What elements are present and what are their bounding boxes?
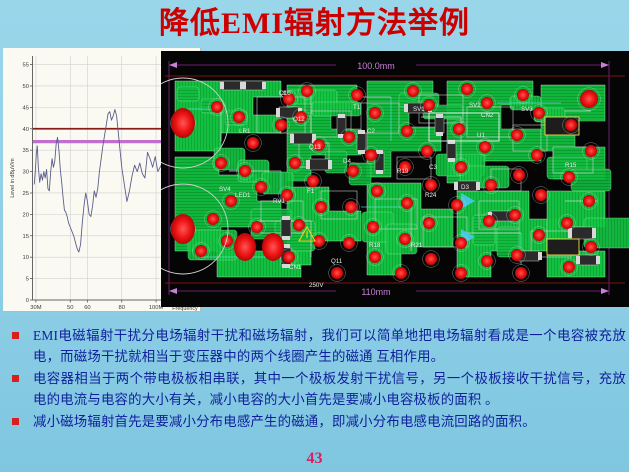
page-number: 43 xyxy=(0,450,629,468)
svg-text:CN1: CN1 xyxy=(289,264,302,271)
svg-text:F1: F1 xyxy=(307,188,315,195)
svg-text:R24: R24 xyxy=(425,192,437,199)
svg-text:RV1: RV1 xyxy=(273,198,285,205)
square-bullet-icon xyxy=(12,375,19,382)
svg-text:80: 80 xyxy=(119,305,125,311)
square-bullet-icon xyxy=(12,418,19,425)
svg-text:250V: 250V xyxy=(309,282,324,289)
svg-text:Q12: Q12 xyxy=(293,116,305,123)
bullet-text: 减小磁场辐射首先是要减小分布电感产生的磁通，即减小分布电感电流回路的面积。 xyxy=(33,411,626,432)
svg-text:CN2: CN2 xyxy=(481,112,494,119)
svg-text:R21: R21 xyxy=(411,242,423,249)
svg-text:60: 60 xyxy=(84,305,90,311)
svg-text:0: 0 xyxy=(26,298,29,304)
svg-text:L1: L1 xyxy=(279,90,286,97)
svg-text:45: 45 xyxy=(23,105,29,111)
bullet-text: EMI电磁辐射干扰分电场辐射干扰和磁场辐射，我们可以简单地把电场辐射看成是一个电… xyxy=(33,325,626,367)
square-bullet-icon xyxy=(12,332,19,339)
svg-text:30: 30 xyxy=(23,170,29,176)
svg-text:SV3: SV3 xyxy=(521,106,533,113)
svg-text:15: 15 xyxy=(23,234,29,240)
svg-text:Q13: Q13 xyxy=(309,144,321,151)
page-title: 降低EMI辐射方法举例 xyxy=(0,6,629,42)
svg-text:U1: U1 xyxy=(477,132,485,139)
pcb-dimension-bottom: 110mm xyxy=(361,287,390,297)
svg-text:35: 35 xyxy=(23,148,29,154)
svg-text:5: 5 xyxy=(26,277,29,283)
svg-text:Q11: Q11 xyxy=(331,258,343,265)
pcb-layout-image: 100.0mm 110mm Q10Q12Q13Q11LED1CN1CN2RV1F… xyxy=(161,51,629,307)
svg-text:C3: C3 xyxy=(429,164,437,171)
svg-text:SV4: SV4 xyxy=(219,186,231,193)
list-item: 减小磁场辐射首先是要减小分布电感产生的磁通，即减小分布电感电流回路的面积。 xyxy=(6,411,626,432)
svg-text:SV1: SV1 xyxy=(413,106,425,113)
body-content: EMI电磁辐射干扰分电场辐射干扰和磁场辐射，我们可以简单地把电场辐射看成是一个电… xyxy=(6,325,626,433)
svg-text:D3: D3 xyxy=(461,184,469,191)
svg-text:T1: T1 xyxy=(353,104,361,111)
svg-text:25: 25 xyxy=(23,191,29,197)
chart-y-axis-label: Level in dBµV/m xyxy=(10,158,16,198)
svg-text:55: 55 xyxy=(23,63,29,69)
svg-text:D4: D4 xyxy=(343,158,351,165)
svg-text:50: 50 xyxy=(67,305,73,311)
svg-text:R18: R18 xyxy=(369,242,381,249)
svg-text:LR1: LR1 xyxy=(239,128,251,135)
svg-text:50: 50 xyxy=(23,84,29,90)
pcb-svg: 100.0mm 110mm Q10Q12Q13Q11LED1CN1CN2RV1F… xyxy=(161,51,629,307)
list-item: EMI电磁辐射干扰分电场辐射干扰和磁场辐射，我们可以简单地把电场辐射看成是一个电… xyxy=(6,325,626,367)
svg-text:10: 10 xyxy=(23,255,29,261)
svg-text:30M: 30M xyxy=(30,305,41,311)
svg-text:C2: C2 xyxy=(367,128,375,135)
bullet-text: 电容器相当于两个带电极板相串联，其中一个极板发射干扰信号，另一个极板接收干扰信号… xyxy=(33,368,626,410)
list-item: 电容器相当于两个带电极板相串联，其中一个极板发射干扰信号，另一个极板接收干扰信号… xyxy=(6,368,626,410)
svg-text:R19: R19 xyxy=(397,168,409,175)
svg-text:LED1: LED1 xyxy=(235,192,251,199)
pcb-dimension-top: 100.0mm xyxy=(357,61,395,71)
svg-text:R15: R15 xyxy=(565,162,577,169)
svg-text:SV2: SV2 xyxy=(469,102,481,109)
svg-text:40: 40 xyxy=(23,127,29,133)
slide-canvas: 降低EMI辐射方法举例 0510152025303540455055 30M50… xyxy=(0,0,629,472)
svg-text:20: 20 xyxy=(23,212,29,218)
